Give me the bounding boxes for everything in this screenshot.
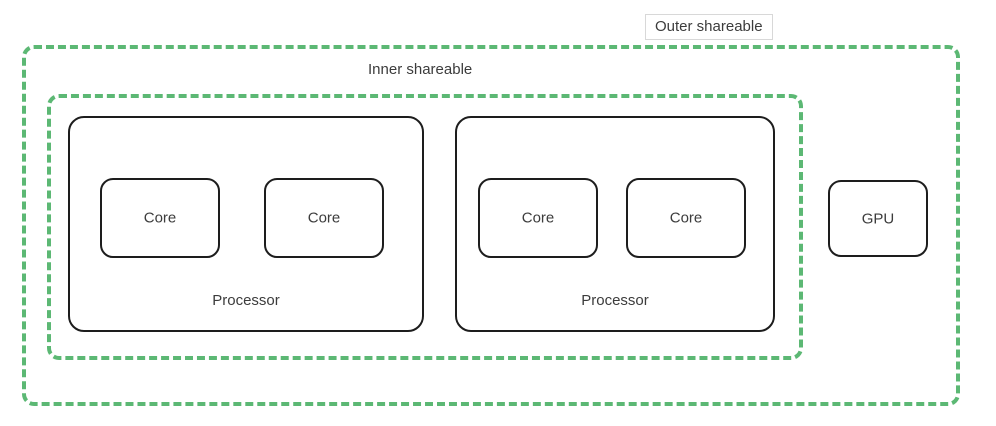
- core-label-3: Core: [480, 211, 596, 226]
- core-label-2: Core: [266, 211, 382, 226]
- core-label-1: Core: [102, 211, 218, 226]
- processor-label-1: Processor: [70, 293, 422, 308]
- outer-shareable-label: Outer shareable: [645, 14, 773, 40]
- core-block-1: Core: [100, 178, 220, 258]
- core-label-4: Core: [628, 211, 744, 226]
- shareability-domain-diagram: Outer shareable Inner shareable Non-shar…: [0, 0, 996, 426]
- gpu-block: GPU: [828, 180, 928, 257]
- processor-label-2: Processor: [457, 293, 773, 308]
- core-block-2: Core: [264, 178, 384, 258]
- core-block-3: Core: [478, 178, 598, 258]
- core-block-4: Core: [626, 178, 746, 258]
- gpu-label: GPU: [830, 211, 926, 226]
- inner-shareable-label: Inner shareable: [362, 62, 478, 77]
